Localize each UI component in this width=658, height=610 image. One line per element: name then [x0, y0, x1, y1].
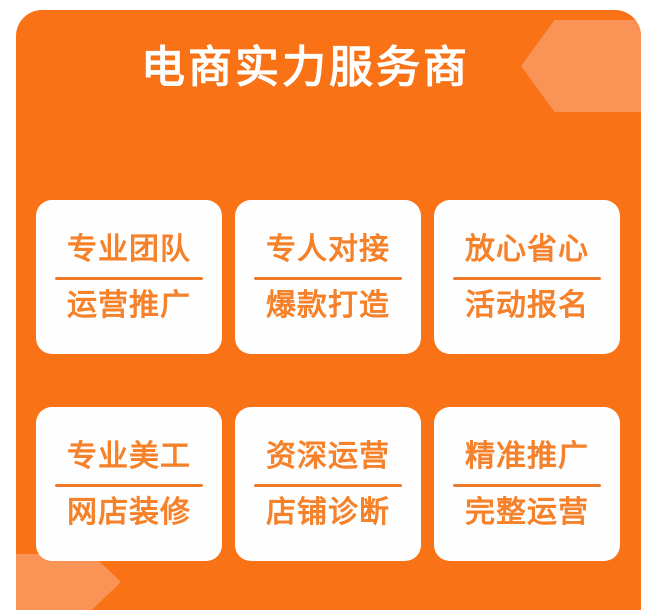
feature-card-title: 精准推广: [465, 440, 589, 474]
feature-card-subtitle: 完整运营: [465, 496, 589, 530]
feature-card-subtitle: 活动报名: [465, 289, 589, 323]
feature-card-subtitle: 运营推广: [67, 289, 191, 323]
feature-card-divider: [254, 277, 402, 280]
feature-card-title: 资深运营: [266, 440, 390, 474]
feature-card-divider: [453, 484, 601, 487]
feature-card[interactable]: 专业团队 运营推广: [36, 200, 222, 354]
promo-banner: 电商实力服务商 专业团队 运营推广 专人对接 爆款打造 放心省心 活动报名 专业…: [0, 0, 658, 606]
feature-card-grid: 专业团队 运营推广 专人对接 爆款打造 放心省心 活动报名 专业美工 网店装修: [36, 200, 622, 561]
feature-card-title: 专人对接: [266, 233, 390, 267]
page-title: 电商实力服务商: [141, 46, 470, 90]
feature-card-title: 放心省心: [465, 233, 589, 267]
feature-card-divider: [453, 277, 601, 280]
feature-card[interactable]: 资深运营 店铺诊断: [235, 407, 421, 561]
feature-card[interactable]: 专人对接 爆款打造: [235, 200, 421, 354]
feature-card-divider: [55, 484, 203, 487]
feature-card-title: 专业美工: [67, 440, 191, 474]
feature-card-subtitle: 店铺诊断: [266, 496, 390, 530]
feature-card[interactable]: 放心省心 活动报名: [434, 200, 620, 354]
feature-card-title: 专业团队: [67, 233, 191, 267]
feature-card-subtitle: 爆款打造: [266, 289, 390, 323]
chevron-left-icon: [521, 20, 641, 112]
feature-card-divider: [254, 484, 402, 487]
banner-panel: 电商实力服务商 专业团队 运营推广 专人对接 爆款打造 放心省心 活动报名 专业…: [16, 10, 641, 610]
feature-card-subtitle: 网店装修: [67, 496, 191, 530]
feature-card-divider: [55, 277, 203, 280]
feature-card[interactable]: 专业美工 网店装修: [36, 407, 222, 561]
feature-card[interactable]: 精准推广 完整运营: [434, 407, 620, 561]
arrow-right-icon: [16, 554, 121, 610]
